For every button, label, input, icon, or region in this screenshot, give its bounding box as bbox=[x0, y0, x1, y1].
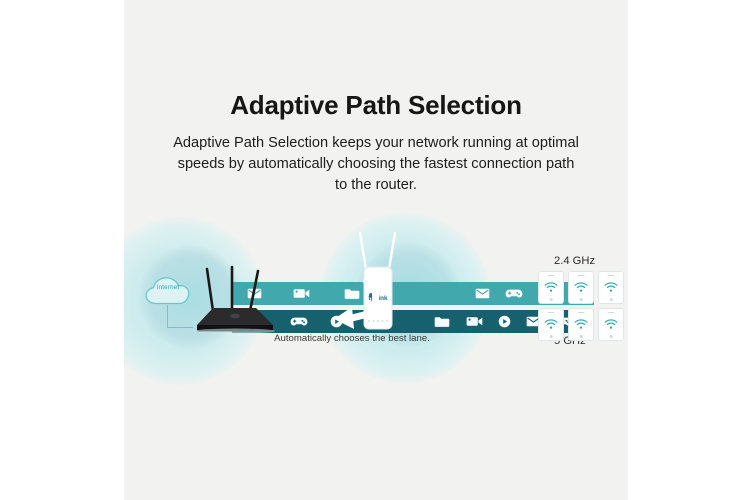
wifi-icon bbox=[544, 319, 558, 330]
device-card[interactable] bbox=[538, 308, 564, 341]
cloud-connection-line-v bbox=[167, 305, 168, 328]
device-home-button bbox=[610, 298, 613, 301]
device-card[interactable] bbox=[568, 308, 594, 341]
content-panel: Adaptive Path Selection Adaptive Path Se… bbox=[124, 0, 628, 500]
device-card[interactable] bbox=[598, 308, 624, 341]
page-description: Adaptive Path Selection keeps your netwo… bbox=[172, 133, 580, 196]
wifi-icon bbox=[604, 319, 618, 330]
device-speaker bbox=[548, 275, 555, 276]
device-home-button bbox=[580, 298, 583, 301]
wifi-icon bbox=[544, 282, 558, 293]
device-card[interactable] bbox=[598, 271, 624, 304]
device-card[interactable] bbox=[538, 271, 564, 304]
play-circle-icon bbox=[490, 310, 518, 333]
device-home-button bbox=[550, 335, 553, 338]
adaptive-path-diagram: Internet bbox=[124, 225, 628, 375]
page-title: Adaptive Path Selection bbox=[124, 90, 628, 121]
device-speaker bbox=[578, 275, 585, 276]
wifi-icon bbox=[574, 319, 588, 330]
device-card[interactable] bbox=[568, 271, 594, 304]
device-speaker bbox=[608, 312, 615, 313]
device-speaker bbox=[608, 275, 615, 276]
folder-icon bbox=[426, 310, 458, 333]
wifi-router bbox=[180, 263, 286, 333]
device-speaker bbox=[548, 312, 555, 313]
diagram-caption: Automatically chooses the best lane. bbox=[242, 333, 462, 344]
connected-devices-grid bbox=[538, 271, 624, 341]
device-home-button bbox=[580, 335, 583, 338]
band-label-24ghz: 2.4 GHz bbox=[554, 255, 628, 267]
device-home-button bbox=[550, 298, 553, 301]
wifi-icon bbox=[604, 282, 618, 293]
wifi-icon bbox=[574, 282, 588, 293]
device-speaker bbox=[578, 312, 585, 313]
device-home-button bbox=[610, 335, 613, 338]
mail-icon bbox=[466, 282, 498, 305]
video-camera-icon bbox=[458, 310, 490, 333]
lane-switch-arrow-icon bbox=[318, 277, 382, 333]
game-controller-icon bbox=[498, 282, 530, 305]
